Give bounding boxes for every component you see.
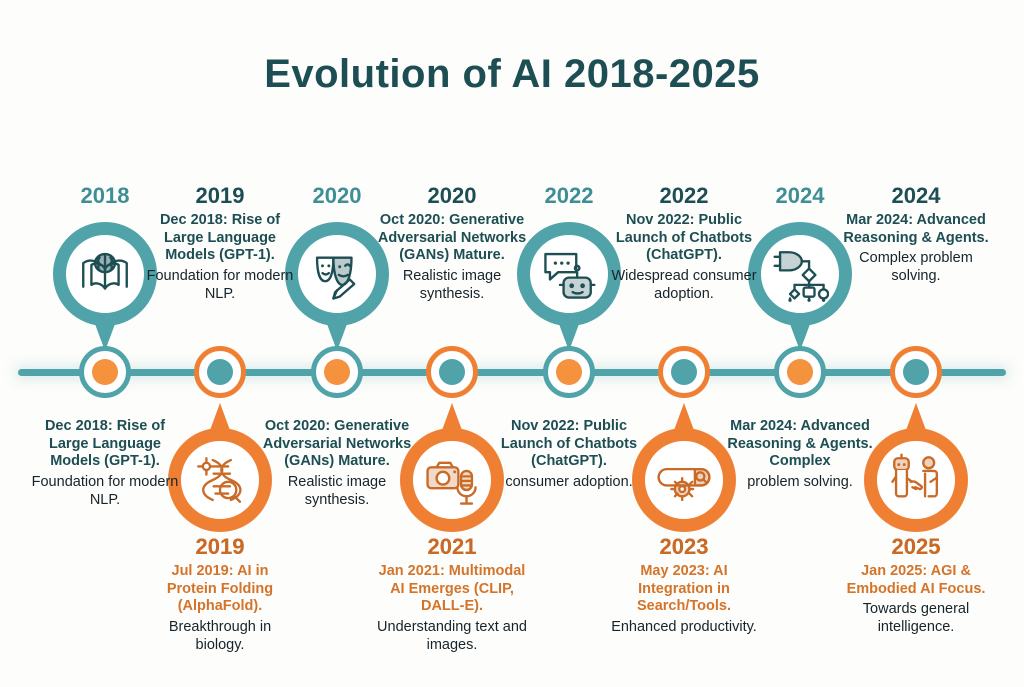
text-block-headline: Oct 2020: Generative Adversarial Network… <box>262 418 412 471</box>
timeline-node[interactable] <box>194 346 246 398</box>
milestone-text-block: 2020Oct 2020: Generative Adversarial Net… <box>377 183 527 303</box>
text-block-detail: Breakthrough in biology. <box>145 619 295 654</box>
milestone-pin-2018[interactable] <box>53 222 157 326</box>
text-block-detail: Enhanced productivity. <box>609 619 759 637</box>
milestone-text-block: 2024Mar 2024: Advanced Reasoning & Agent… <box>841 183 991 286</box>
text-block-headline: Nov 2022: Public Launch of Chatbots (Cha… <box>609 212 759 265</box>
text-block-detail: consumer adoption. <box>494 474 644 492</box>
milestone-text-block: 2022Nov 2022: Public Launch of Chatbots … <box>609 183 759 303</box>
text-block-headline: Jul 2019: AI in Protein Folding (AlphaFo… <box>145 563 295 616</box>
text-block-headline: Dec 2018: Rise of Large Language Models … <box>145 212 295 265</box>
text-block-detail: Complex problem solving. <box>841 250 991 285</box>
text-block-detail: Realistic image synthesis. <box>262 474 412 509</box>
masks-paintbrush-icon <box>308 245 366 303</box>
milestone-pin-2020[interactable] <box>285 222 389 326</box>
robot-handshake-icon <box>887 451 945 509</box>
timeline-node[interactable] <box>774 346 826 398</box>
text-block-headline: Dec 2018: Rise of Large Language Models … <box>30 418 180 471</box>
milestone-text-block: Nov 2022: Public Launch of Chatbots (Cha… <box>494 418 644 492</box>
timeline-node[interactable] <box>311 346 363 398</box>
camera-microphone-icon <box>423 451 481 509</box>
milestone-pin-2024[interactable] <box>748 222 852 326</box>
milestone-text-block: 2019Dec 2018: Rise of Large Language Mod… <box>145 183 295 303</box>
chat-robot-icon <box>540 245 598 303</box>
text-block-headline: May 2023: AI Integration in Search/Tools… <box>609 563 759 616</box>
timeline-node[interactable] <box>543 346 595 398</box>
text-block-headline: Jan 2021: Multimodal AI Emerges (CLIP, D… <box>377 563 527 616</box>
text-block-detail: Understanding text and images. <box>377 619 527 654</box>
text-block-year: 2025 <box>841 534 991 561</box>
milestone-pin-2025[interactable] <box>864 428 968 532</box>
dna-magnifier-icon <box>191 451 249 509</box>
search-gear-icon <box>655 451 713 509</box>
text-block-headline: Jan 2025: AGI & Embodied AI Focus. <box>841 563 991 598</box>
timeline-node[interactable] <box>658 346 710 398</box>
milestone-pin-2022[interactable] <box>517 222 621 326</box>
text-block-detail: problem solving. <box>725 474 875 492</box>
brain-book-icon <box>76 245 134 303</box>
text-block-headline: Nov 2022: Public Launch of Chatbots (Cha… <box>494 418 644 471</box>
milestone-pin-2019[interactable] <box>168 428 272 532</box>
milestone-caption-2025: 2025Jan 2025: AGI & Embodied AI Focus.To… <box>841 534 991 637</box>
milestone-pin-2023[interactable] <box>632 428 736 532</box>
timeline-node[interactable] <box>890 346 942 398</box>
milestone-caption-2023: 2023May 2023: AI Integration in Search/T… <box>609 534 759 637</box>
logic-gate-flowchart-icon <box>771 245 829 303</box>
timeline-node[interactable] <box>79 346 131 398</box>
milestone-pin-2021[interactable] <box>400 428 504 532</box>
milestone-text-block: Mar 2024: Advanced Reasoning & Agents. C… <box>725 418 875 492</box>
text-block-detail: Widespread consumer adoption. <box>609 268 759 303</box>
text-block-headline: Mar 2024: Advanced Reasoning & Agents. C… <box>725 418 875 471</box>
milestone-text-block: Dec 2018: Rise of Large Language Models … <box>30 418 180 509</box>
text-block-detail: Foundation for modern NLP. <box>30 474 180 509</box>
text-block-year: 2023 <box>609 534 759 561</box>
timeline-axis <box>18 369 1006 376</box>
text-block-detail: Realistic image synthesis. <box>377 268 527 303</box>
text-block-year: 2019 <box>145 183 295 210</box>
text-block-year: 2024 <box>841 183 991 210</box>
text-block-detail: Foundation for modern NLP. <box>145 268 295 303</box>
text-block-headline: Mar 2024: Advanced Reasoning & Agents. <box>841 212 991 247</box>
text-block-year: 2019 <box>145 534 295 561</box>
text-block-year: 2021 <box>377 534 527 561</box>
timeline-node[interactable] <box>426 346 478 398</box>
milestone-caption-2021: 2021Jan 2021: Multimodal AI Emerges (CLI… <box>377 534 527 654</box>
text-block-detail: Towards general intelligence. <box>841 601 991 636</box>
text-block-year: 2022 <box>609 183 759 210</box>
milestone-caption-2019: 2019Jul 2019: AI in Protein Folding (Alp… <box>145 534 295 654</box>
text-block-year: 2020 <box>377 183 527 210</box>
milestone-text-block: Oct 2020: Generative Adversarial Network… <box>262 418 412 509</box>
page-title: Evolution of AI 2018-2025 <box>0 52 1024 97</box>
text-block-headline: Oct 2020: Generative Adversarial Network… <box>377 212 527 265</box>
